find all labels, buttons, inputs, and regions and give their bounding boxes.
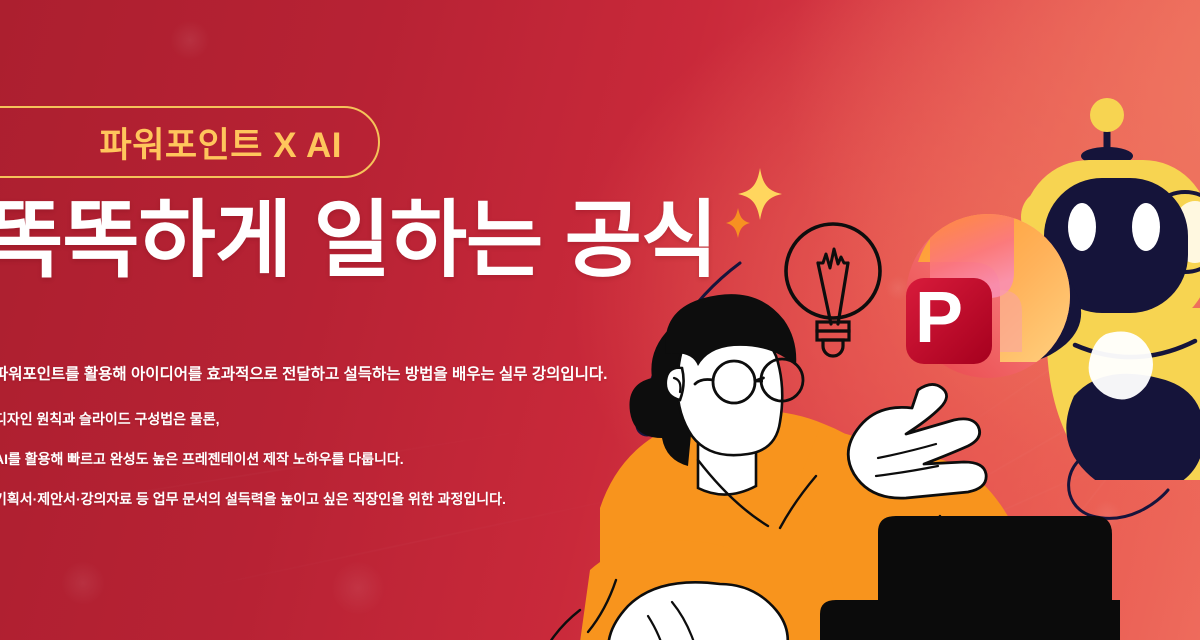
background-light-streaks — [0, 0, 1200, 640]
powerpoint-logo-icon: P — [888, 196, 1088, 396]
description-line: 기획서·제안서·강의자료 등 업무 문서의 설득력을 높이고 싶은 직장인을 위… — [0, 489, 506, 509]
small-sparkle-icon — [726, 208, 750, 238]
circle-outline-icon — [632, 410, 662, 440]
badge-label: 파워포인트 X AI — [100, 117, 343, 168]
loop-squiggle-icon — [1040, 440, 1180, 620]
promo-banner: P — [0, 0, 1200, 640]
svg-text:P: P — [915, 278, 963, 358]
small-circle-outline-icon — [1163, 432, 1191, 460]
lightbulb-icon — [778, 216, 888, 366]
badge-pill: 파워포인트 X AI — [0, 106, 380, 178]
description-line: AI를 활용해 빠르고 완성도 높은 프레젠테이션 제작 노하우를 다룹니다. — [0, 449, 506, 469]
lead-paragraph: 파워포인트를 활용해 아이디어를 효과적으로 전달하고 설득하는 방법을 배우는… — [0, 362, 607, 384]
description-list: 디자인 원칙과 슬라이드 구성법은 물론, AI를 활용해 빠르고 완성도 높은… — [0, 409, 506, 509]
robot-mascot-icon — [930, 60, 1200, 480]
sparkle-icon — [738, 168, 782, 220]
person-with-laptop-icon — [520, 280, 1120, 640]
illustration-group: P — [0, 0, 1200, 640]
page-title: 똑똑하게 일하는 공식 — [0, 196, 717, 285]
description-line: 디자인 원칙과 슬라이드 구성법은 물론, — [0, 409, 506, 429]
